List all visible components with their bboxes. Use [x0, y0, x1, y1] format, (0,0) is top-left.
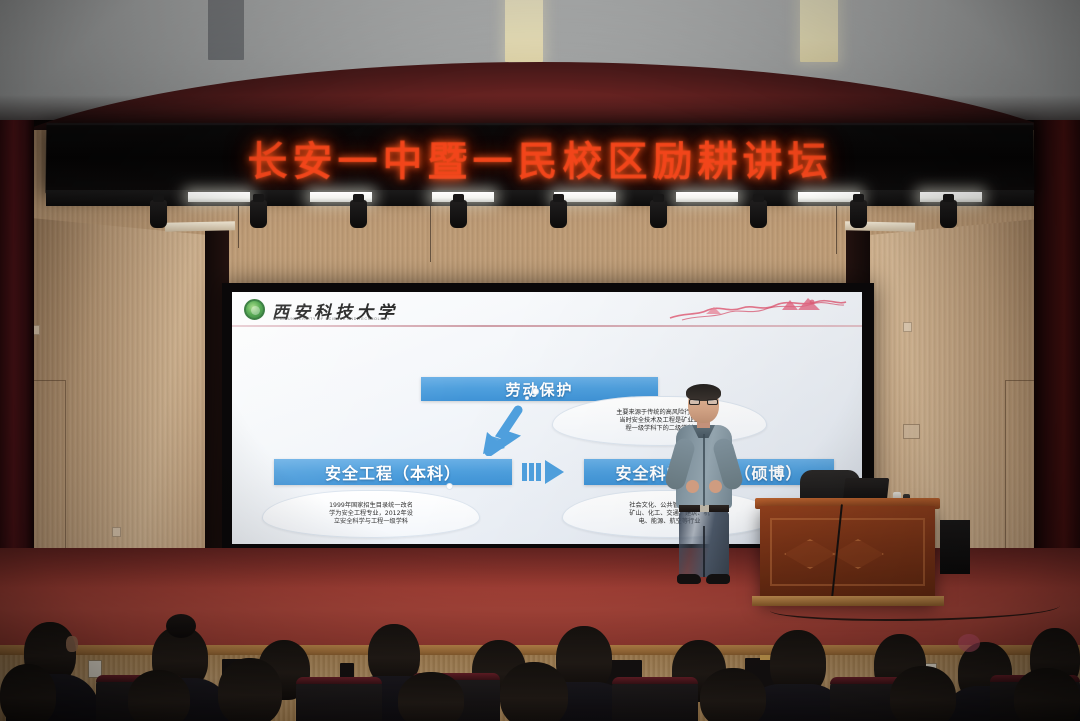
wall-panel-plate [903, 424, 920, 439]
seat-trim [612, 677, 698, 684]
university-subtitle: XI'AN UNIVERSITY OF SCIENCE AND TECHNOLO… [274, 317, 390, 321]
spotlight [850, 200, 867, 228]
spotlight [550, 200, 567, 228]
presenter-leg-split [703, 526, 705, 577]
auditorium-seat [612, 677, 698, 721]
podium-base [752, 596, 944, 606]
cloud-bubble [446, 483, 453, 490]
spotlight [350, 200, 367, 228]
slide-header-rule [232, 325, 862, 327]
audience-head [890, 666, 956, 721]
speaker-cabinet [940, 520, 970, 574]
presenter-shoe-left [677, 574, 701, 584]
eyeglasses-icon [689, 399, 718, 405]
presenter-hand-left [686, 480, 699, 493]
callout-cloud-bottom-left: 1999年国家招生目录统一改名 学为安全工程专业，2012年设 立安全科学与工程… [262, 490, 480, 538]
university-seal-icon [244, 299, 265, 320]
presenter-belt-buckle [700, 505, 709, 512]
cloud-line: 立安全科学与工程一级学科 [334, 518, 408, 526]
audience-hair-bun [166, 614, 196, 638]
arrow-bar [529, 463, 534, 481]
arrow-head [545, 460, 564, 484]
audience-head [128, 670, 190, 721]
hanging-cable [238, 206, 239, 248]
cloud-bubble [532, 388, 539, 395]
audience-head [500, 662, 568, 721]
cloud-line: 学为安全工程专业，2012年设 [329, 510, 413, 518]
lecture-hall-photo: 长安一中暨一民校区励耕讲坛 西安科技大学 XI'AN UNIVERSITY OF… [0, 0, 1080, 721]
spotlight [450, 200, 467, 228]
ceiling-panel-dim [208, 0, 244, 60]
strip-light [188, 192, 250, 202]
soffit-edge-left [165, 221, 235, 231]
arrow-down-left-icon [477, 404, 529, 456]
spotlight [940, 200, 957, 228]
cloud-bubble [525, 396, 529, 400]
hanging-cable [430, 206, 431, 262]
audience-head [398, 672, 464, 721]
mountain-landscape-icon [662, 296, 852, 324]
strip-light [676, 192, 738, 202]
wall-socket [903, 322, 912, 332]
arrow-bar [522, 463, 527, 481]
ceiling-light-panel [800, 0, 838, 62]
arrow-bar [536, 463, 541, 481]
audience-head [218, 658, 282, 721]
presenter-shoe-right [706, 574, 730, 584]
stage-curtain-right [1034, 120, 1080, 590]
led-banner: 长安一中暨一民校区励耕讲坛 [45, 123, 1034, 193]
audience-hair-bun [958, 634, 980, 652]
audience-head [700, 668, 766, 721]
spotlight [750, 200, 767, 228]
ceiling-light-panel [505, 0, 543, 62]
presenter [668, 386, 740, 590]
slide-header: 西安科技大学 XI'AN UNIVERSITY OF SCIENCE AND T… [232, 292, 862, 326]
audience [0, 612, 1080, 721]
presenter-hand-right [709, 480, 722, 493]
spotlight [250, 200, 267, 228]
spotlight [650, 200, 667, 228]
arrow-right-icon [522, 460, 576, 484]
flow-box-safety-engineering: 安全工程（本科） [274, 459, 512, 485]
audience-head [1014, 668, 1080, 721]
podium [760, 506, 935, 602]
auditorium-seat [296, 677, 382, 721]
wall-socket [112, 527, 121, 537]
audience-face [66, 636, 78, 652]
audience-head [0, 664, 56, 721]
led-banner-text: 长安一中暨一民校区励耕讲坛 [247, 129, 833, 187]
seat-trim [296, 677, 382, 684]
cloud-line: 1999年国家招生目录统一改名 [329, 502, 413, 510]
presenter-shirt-placket [703, 434, 705, 506]
spotlight [150, 200, 167, 228]
hanging-cable [836, 206, 837, 254]
stage-curtain-left [0, 120, 34, 580]
